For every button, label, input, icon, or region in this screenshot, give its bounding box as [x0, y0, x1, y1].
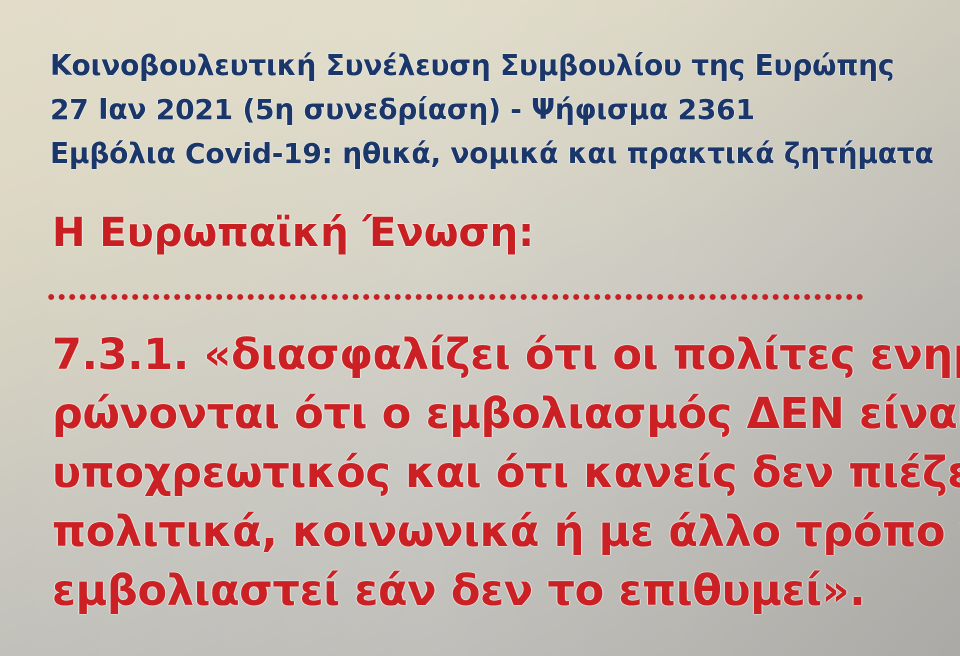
body-line-2: ρώνονται ότι ο εμβολιασμός ΔΕΝ είναι [52, 385, 942, 444]
body-line-4: πολιτικά, κοινωνικά ή με άλλο τρόπο να [52, 503, 942, 562]
poster-canvas: Κοινοβουλευτική Συνέλευση Συμβουλίου της… [0, 0, 960, 656]
header-line-topic: Εμβόλια Covid-19: ηθικά, νομικά και πρακ… [50, 132, 930, 176]
header-block: Κοινοβουλευτική Συνέλευση Συμβουλίου της… [50, 44, 930, 176]
header-line-organisation: Κοινοβουλευτική Συνέλευση Συμβουλίου της… [50, 44, 930, 88]
body-line-1: 7.3.1. «διασφαλίζει ότι οι πολίτες ενημε… [52, 326, 942, 385]
dotted-divider [48, 292, 866, 302]
header-line-session-resolution: 27 Ιαν 2021 (5η συνεδρίαση) - Ψήφισμα 23… [50, 88, 930, 132]
body-block: 7.3.1. «διασφαλίζει ότι οι πολίτες ενημε… [52, 326, 942, 621]
red-subheading-european-union: Η Ευρωπαϊκή Ένωση: [52, 208, 534, 258]
body-line-5: εμβολιαστεί εάν δεν το επιθυμεί». [52, 562, 942, 621]
body-line-3: υποχρεωτικός και ότι κανείς δεν πιέζεται [52, 444, 942, 503]
